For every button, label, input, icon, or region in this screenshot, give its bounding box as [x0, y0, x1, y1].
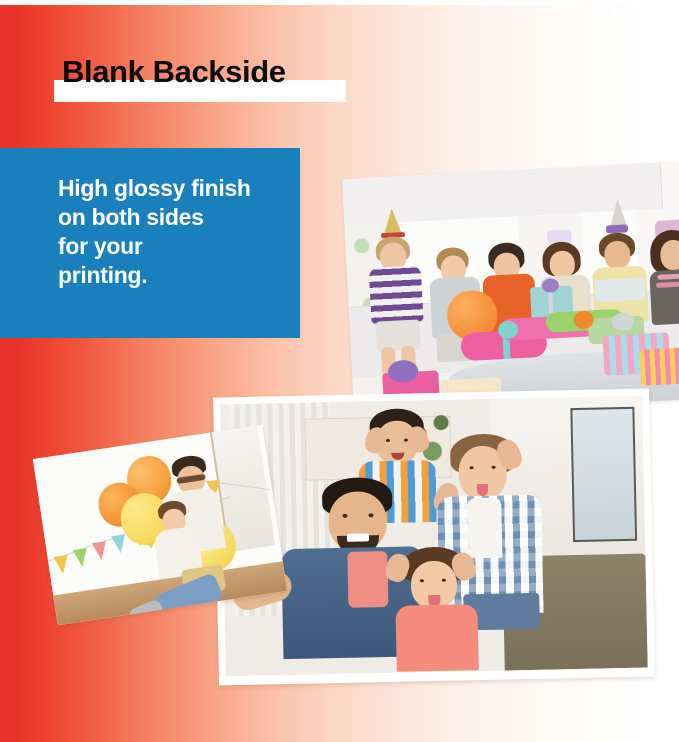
photo-birthday-party: [342, 161, 679, 417]
promo-graphic: Blank Backside High glossy finish on bot…: [0, 0, 679, 742]
background-top-strip: [0, 0, 679, 5]
feature-line-1: High glossy finish: [58, 174, 304, 203]
photo-family-selfie-image: [220, 396, 648, 677]
page-title: Blank Backside: [54, 52, 354, 104]
photo-balloons-image: [33, 425, 287, 625]
photo-balloons-dad-daughter: [33, 425, 287, 625]
feature-callout-box: High glossy finish on both sides for you…: [0, 148, 300, 338]
photo-family-selfie: [213, 388, 655, 685]
feature-line-4: printing.: [58, 261, 304, 290]
feature-line-2: on both sides: [58, 203, 304, 232]
photo-birthday-party-image: [342, 161, 679, 417]
feature-line-3: for your: [58, 232, 304, 261]
feature-callout-text: High glossy finish on both sides for you…: [58, 174, 304, 290]
title-text: Blank Backside: [62, 52, 286, 92]
